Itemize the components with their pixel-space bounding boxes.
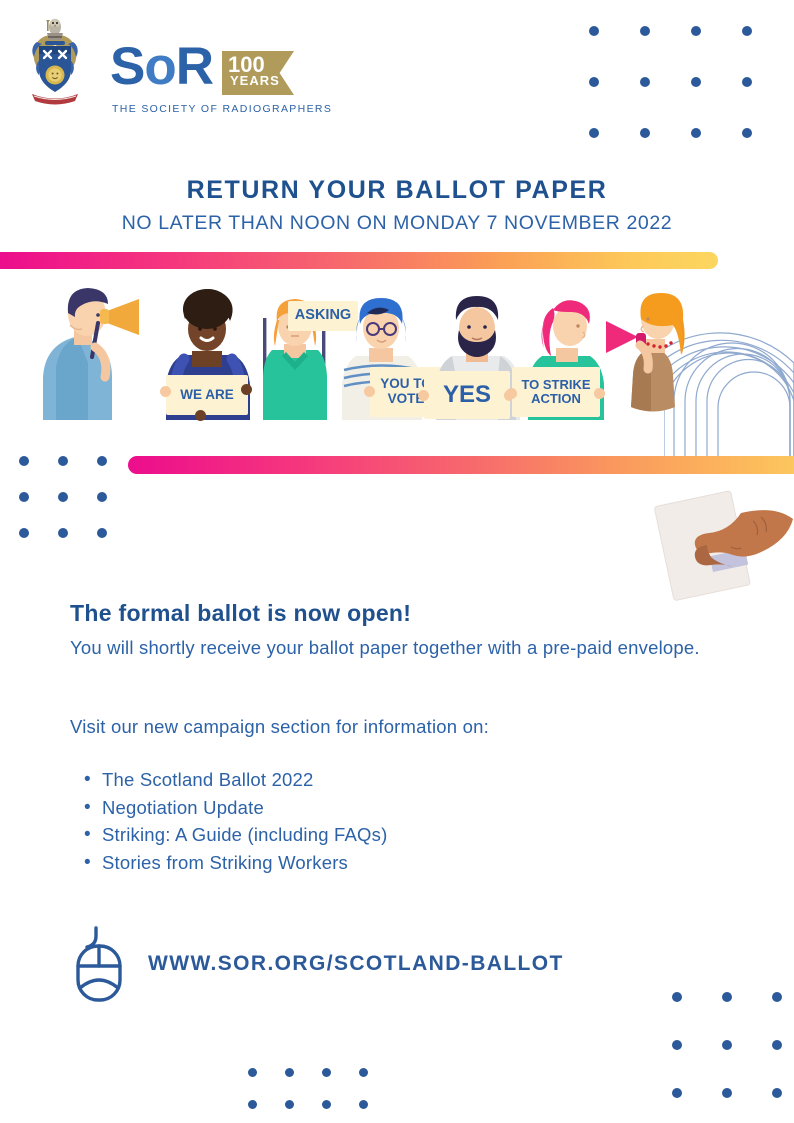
hand-bottom-we-are (195, 410, 206, 421)
decorative-dot (19, 456, 29, 466)
sor-letter-s: S (110, 37, 144, 96)
figure-megaphone-man (40, 285, 155, 425)
decorative-dot (640, 77, 650, 87)
hand-left-vote (364, 386, 375, 397)
decorative-dot (359, 1100, 368, 1109)
anniversary-unit: YEARS (230, 73, 280, 88)
visit-line: Visit our new campaign section for infor… (70, 716, 489, 738)
sign-to-strike-text: TO STRIKE (521, 378, 590, 392)
hand-left-yes (418, 390, 429, 401)
sign-we-are: WE ARE (166, 375, 248, 415)
page-subtitle: NO LATER THAN NOON ON MONDAY 7 NOVEMBER … (0, 212, 794, 235)
decorative-dot (19, 492, 29, 502)
decorative-dot (589, 77, 599, 87)
decorative-dot (589, 26, 599, 36)
decorative-dot (97, 528, 107, 538)
dots-bottom-right (672, 992, 779, 1099)
sor-logo[interactable]: SoR 100 YEARS THE SOCIETY OF RADIOGRAPHE… (22, 18, 292, 113)
dots-left-middle (19, 456, 100, 537)
protest-illustration: WE ARE ASKING (40, 280, 750, 425)
list-item: Striking: A Guide (including FAQs) (102, 821, 387, 849)
body-paragraph: You will shortly receive your ballot pap… (70, 634, 720, 661)
decorative-dot (742, 128, 752, 138)
decorative-dot (322, 1100, 331, 1109)
decorative-dot (742, 26, 752, 36)
decorative-dot (359, 1068, 368, 1077)
decorative-dot (672, 1040, 682, 1050)
sor-wordmark-text: SoR (110, 37, 213, 96)
decorative-dot (722, 1088, 732, 1098)
sign-action-text: ACTION (531, 392, 581, 406)
decorative-dot (285, 1068, 294, 1077)
list-item: The Scotland Ballot 2022 (102, 766, 387, 794)
decorative-dot (19, 528, 29, 538)
page-title: RETURN YOUR BALLOT PAPER (0, 176, 794, 205)
lead-heading: The formal ballot is now open! (70, 600, 411, 627)
decorative-dot (772, 992, 782, 1002)
decorative-dot (772, 1088, 782, 1098)
hand-holding-ballot-icon (645, 483, 794, 603)
hand-left-we-are (160, 386, 171, 397)
decorative-dot (722, 1040, 732, 1050)
decorative-dot (672, 992, 682, 1002)
gradient-bar-top (0, 252, 718, 269)
sign-yes-text: YES (443, 382, 491, 408)
list-item: Stories from Striking Workers (102, 849, 387, 877)
sign-to-strike-action: TO STRIKE ACTION (512, 367, 600, 417)
decorative-dot (248, 1100, 257, 1109)
decorative-dot (691, 26, 701, 36)
sign-yes: YES (424, 371, 510, 419)
decorative-dot (691, 77, 701, 87)
sign-we-are-text: WE ARE (180, 388, 234, 403)
decorative-dot (589, 128, 599, 138)
decorative-dot (640, 128, 650, 138)
decorative-dot (672, 1088, 682, 1098)
decorative-dot (58, 456, 68, 466)
decorative-dot (97, 456, 107, 466)
campaign-topics-list: The Scotland Ballot 2022 Negotiation Upd… (82, 766, 387, 876)
decorative-dot (691, 128, 701, 138)
sor-letter-r: R (176, 37, 213, 96)
anniversary-badge: 100 YEARS (222, 51, 294, 95)
decorative-dot (722, 992, 732, 1002)
dots-top-right (589, 26, 769, 141)
society-tagline: THE SOCIETY OF RADIOGRAPHERS (112, 103, 332, 115)
poster-canvas: SoR 100 YEARS THE SOCIETY OF RADIOGRAPHE… (0, 0, 794, 1123)
figure-megaphone-woman (598, 285, 710, 425)
decorative-dot (285, 1100, 294, 1109)
decorative-dot (640, 26, 650, 36)
gradient-bar-middle (128, 456, 794, 474)
coat-of-arms-icon (22, 18, 88, 106)
dots-bottom-center (248, 1068, 364, 1108)
sor-letter-o: o (144, 37, 175, 96)
sor-wordmark: SoR (110, 40, 213, 93)
list-item: Negotiation Update (102, 794, 387, 822)
decorative-dot (97, 492, 107, 502)
decorative-dot (248, 1068, 257, 1077)
decorative-dot (58, 492, 68, 502)
decorative-dot (772, 1040, 782, 1050)
hand-left-strike (506, 388, 517, 399)
decorative-dot (58, 528, 68, 538)
decorative-dot (742, 77, 752, 87)
computer-mouse-icon (72, 926, 130, 1004)
decorative-dot (322, 1068, 331, 1077)
campaign-url[interactable]: WWW.SOR.ORG/SCOTLAND-BALLOT (148, 952, 564, 976)
